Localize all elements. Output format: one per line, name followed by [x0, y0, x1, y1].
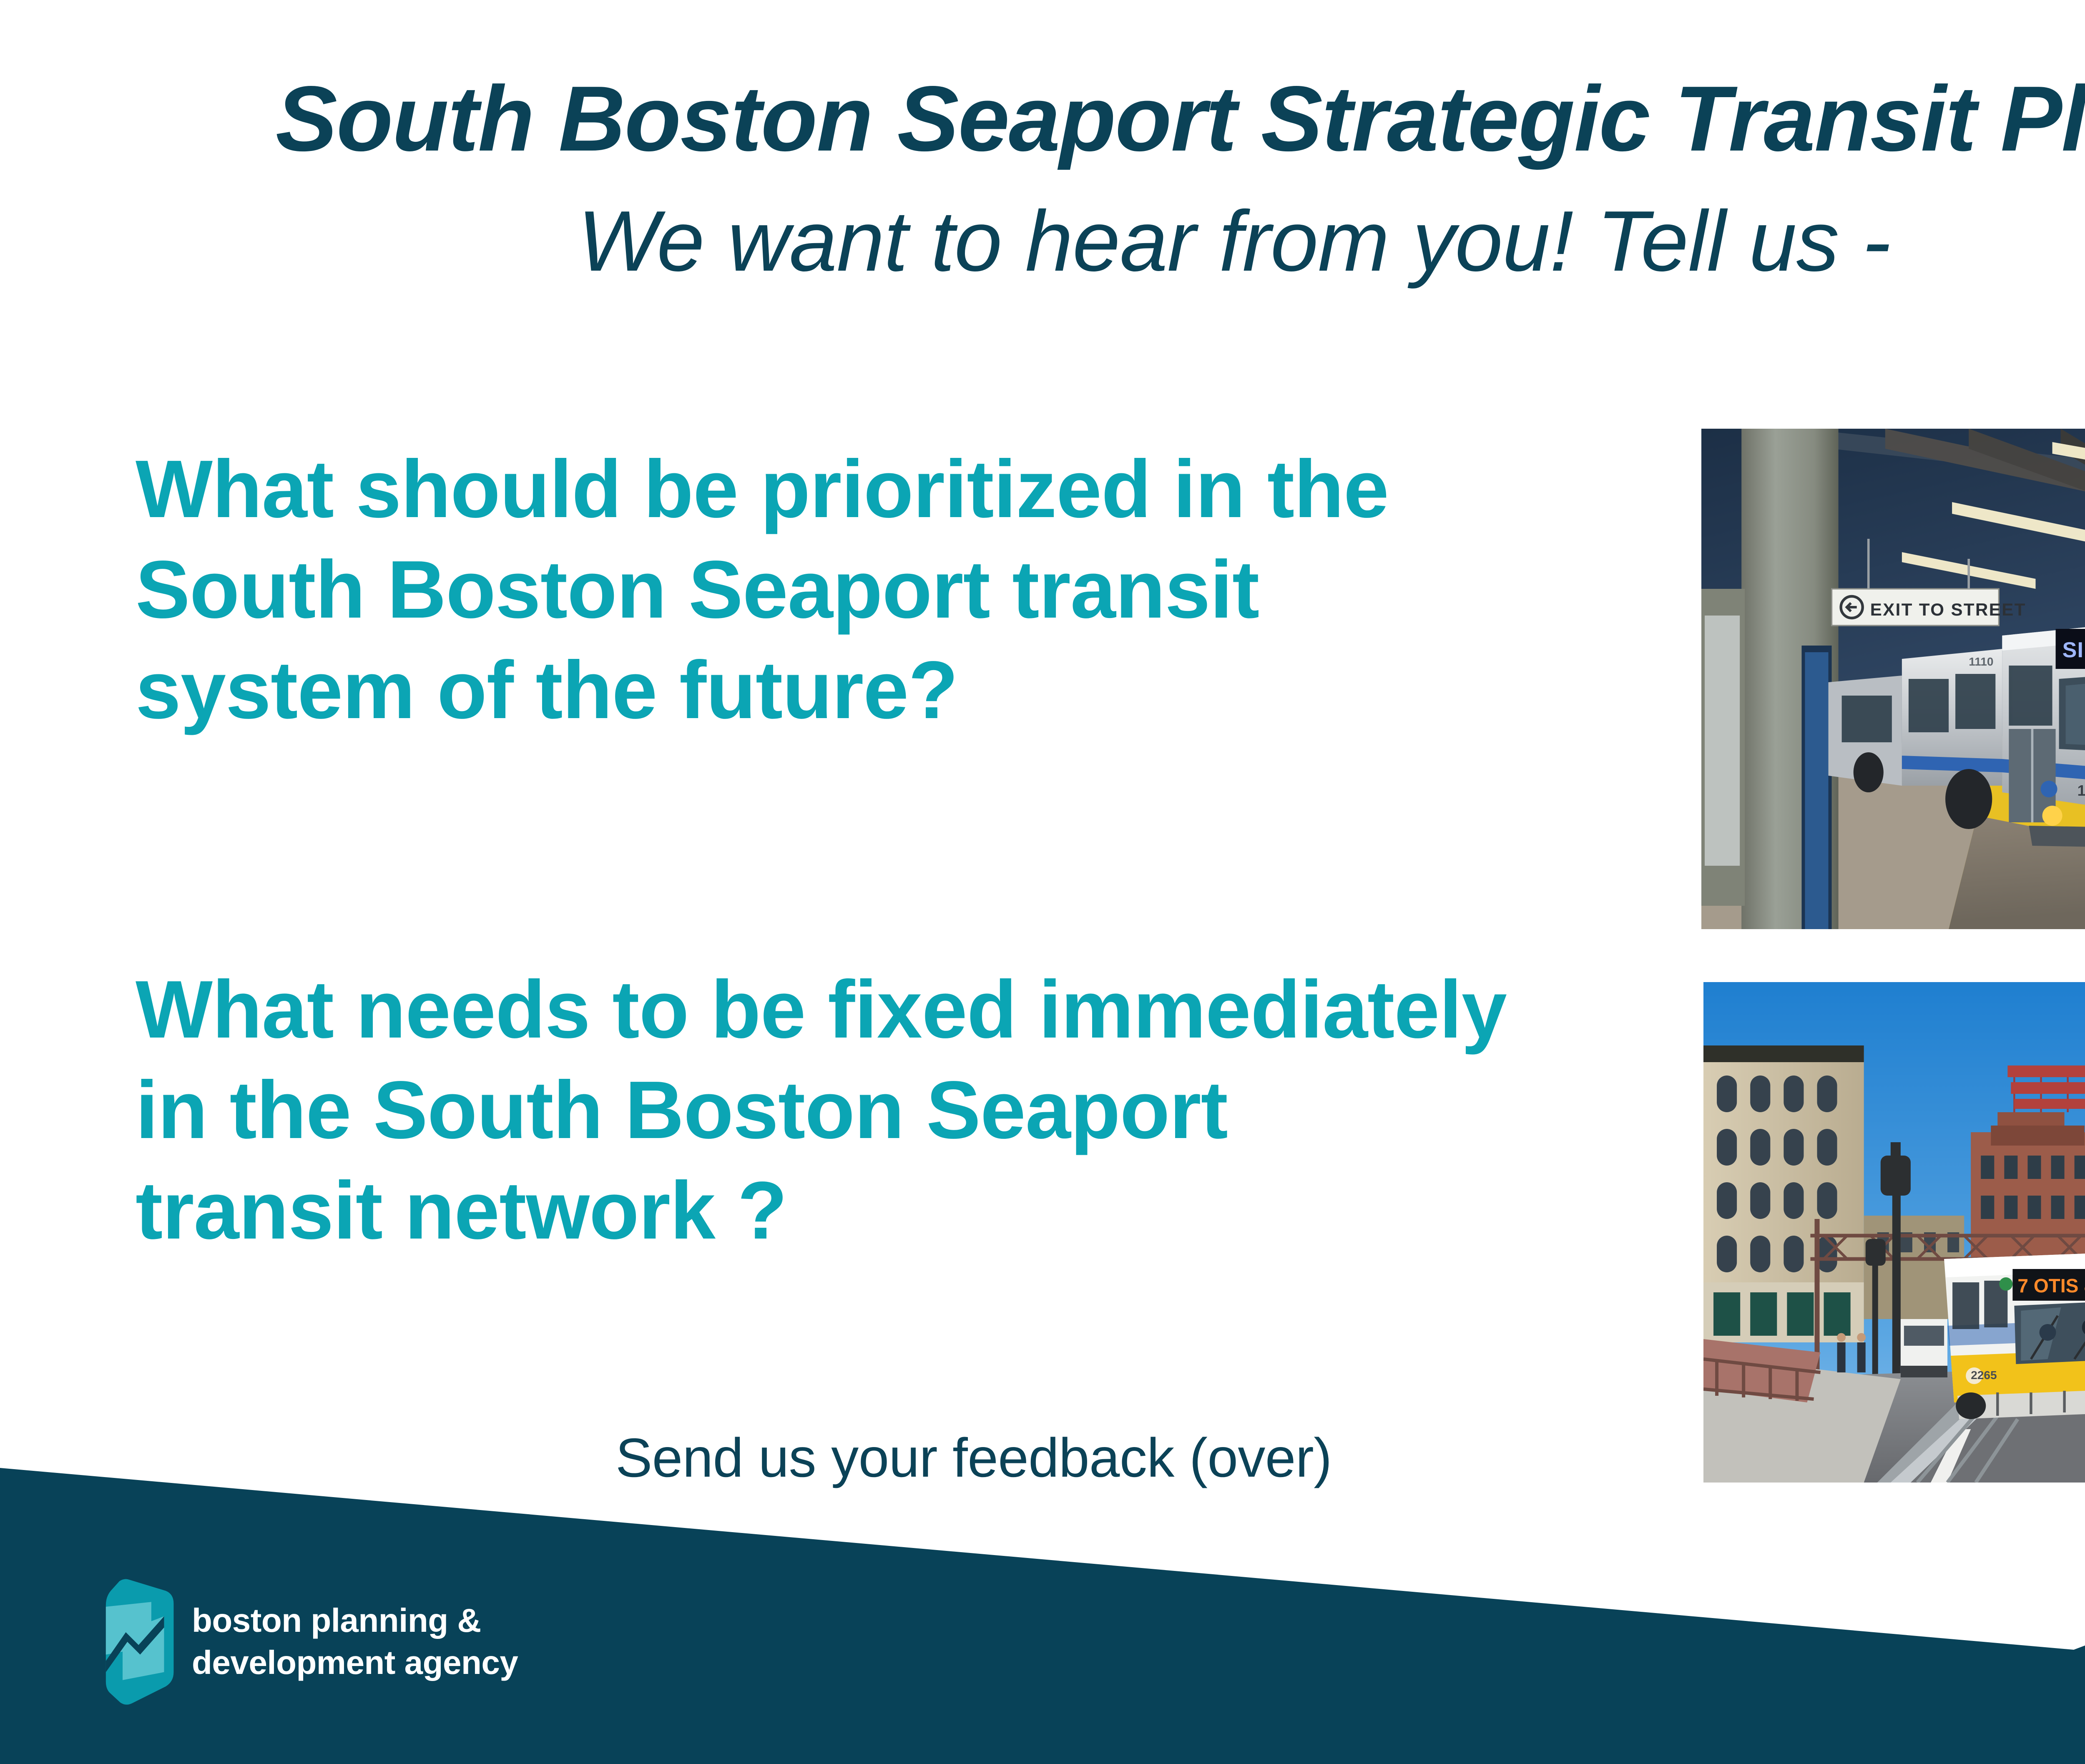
photo-silver-line-artwork: EXIT TO STREET — [1701, 429, 2085, 929]
exit-to-street-sign: EXIT TO STREET — [1832, 589, 2026, 626]
svg-text:2265: 2265 — [1971, 1369, 1997, 1382]
slide-canvas: South Boston Seaport Strategic Transit P… — [0, 0, 2085, 1764]
photo-route7-bus-bridge: 1899 — [1703, 982, 2085, 1483]
destination-sign: 7 OTIS & SUMMER — [2012, 1269, 2085, 1301]
question-block-1: What should be prioritized in the South … — [136, 439, 1712, 740]
question-2-line-3: transit network ? — [136, 1160, 1745, 1261]
feedback-note: Send us your feedback (over) — [484, 1426, 1464, 1489]
bpda-wordmark-line-2: development agency — [192, 1642, 518, 1684]
bpda-wordmark-line-1: boston planning & — [192, 1600, 518, 1642]
svg-text:1110: 1110 — [1969, 655, 1993, 668]
distant-truck — [1901, 1319, 1947, 1377]
svg-text:1110: 1110 — [2077, 782, 2085, 799]
bpda-logo: boston planning & development agency — [104, 1577, 571, 1706]
svg-text:SILVER LINE WAY: SILVER LINE WAY — [2062, 638, 2085, 662]
question-block-2: What needs to be fixed immediately in th… — [136, 959, 1745, 1261]
question-1-line-2: South Boston Seaport transit — [136, 539, 1712, 640]
question-2-line-1: What needs to be fixed immediately — [136, 959, 1745, 1060]
svg-text:EXIT TO STREET: EXIT TO STREET — [1870, 600, 2026, 619]
bpda-logo-mark-icon — [104, 1578, 178, 1706]
rooftop-sign — [2007, 1065, 2085, 1112]
bpda-wordmark: boston planning & development agency — [192, 1600, 518, 1684]
svg-text:7 OTIS & SUMMER: 7 OTIS & SUMMER — [2017, 1275, 2085, 1297]
destination-sign: SILVER LINE WAY — [2056, 629, 2085, 669]
page-title: South Boston Seaport Strategic Transit P… — [0, 65, 2085, 174]
route-7-bus: 7 OTIS & SUMMER — [1944, 1252, 2085, 1419]
photo-route7-artwork: 1899 — [1703, 982, 2085, 1483]
question-1-line-1: What should be prioritized in the — [136, 439, 1712, 539]
question-1-line-3: system of the future? — [136, 640, 1712, 740]
page-subtitle: We want to hear from you! Tell us - — [0, 190, 2085, 293]
question-2-line-2: in the South Boston Seaport — [136, 1060, 1745, 1160]
photo-silver-line-bus: EXIT TO STREET — [1701, 429, 2085, 929]
